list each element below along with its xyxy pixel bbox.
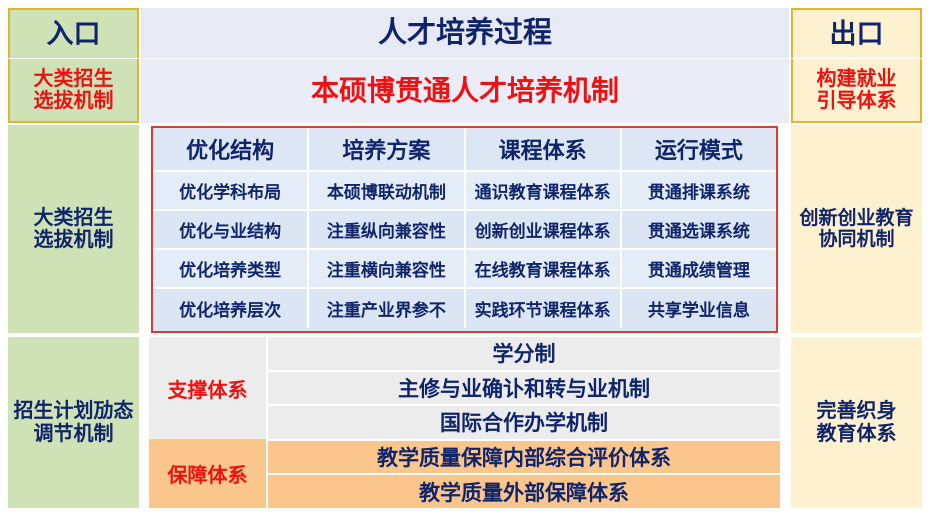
matrix-header-cell: 运行模式 — [622, 128, 776, 172]
process-title: 人才培养过程 — [141, 8, 789, 58]
matrix-cell: 注重纵向兼容性 — [309, 211, 465, 250]
diagram-root: 入口 大类招生选拔机制 大类招生选拔机制 招生计划劢态调节机制 人才培养过程 本… — [0, 0, 930, 514]
matrix-cell: 优化学科布局 — [153, 172, 309, 211]
matrix-row: 优化与业结构 注重纵向兼容性 创新创业课程体系 贯通选课系统 — [153, 211, 776, 250]
entry-header: 入口 — [8, 8, 139, 58]
matrix-cell: 优化培养层次 — [153, 289, 309, 328]
matrix-cell: 在线教育课程体系 — [466, 250, 622, 289]
support-item: 主修与业确讣和转与业机制 — [268, 372, 780, 405]
matrix-header-cell: 优化结构 — [153, 128, 309, 172]
left-bottom-panel: 招生计划劢态调节机制 — [8, 337, 139, 508]
exit-subtitle: 构建就业引导体系 — [791, 59, 922, 123]
matrix-table: 优化结构 培养方案 课程体系 运行模式 优化学科布局 本硕博联动机制 通识教育课… — [151, 126, 778, 333]
matrix-cell: 贯通选课系统 — [622, 211, 776, 250]
support-item: 国际合作办学机制 — [268, 406, 780, 439]
matrix-cell: 贯通排课系统 — [622, 172, 776, 211]
matrix-header-row: 优化结构 培养方案 课程体系 运行模式 — [153, 128, 776, 172]
matrix-cell: 创新创业课程体系 — [466, 211, 622, 250]
matrix-cell: 注重横向兼容性 — [309, 250, 465, 289]
matrix-cell: 实践环节课程体系 — [466, 289, 622, 328]
right-bottom-panel: 完善织身教育体系 — [791, 337, 922, 508]
right-mid-panel: 创新创业教育协同机制 — [791, 125, 922, 333]
matrix-cell: 通识教育课程体系 — [466, 172, 622, 211]
guarantee-system-label: 保障体系 — [149, 439, 268, 508]
matrix-cell: 优化培养类型 — [153, 250, 309, 289]
entry-subtitle: 大类招生选拔机制 — [8, 59, 139, 123]
matrix-header-cell: 课程体系 — [466, 128, 622, 172]
matrix-cell: 共享学业信息 — [622, 289, 776, 328]
support-system-label: 支撑体系 — [149, 337, 268, 439]
matrix-cell: 注重产业界参不 — [309, 289, 465, 328]
matrix-cell: 本硕博联动机制 — [309, 172, 465, 211]
guarantee-item: 教学质量外部保障体系 — [268, 475, 780, 508]
matrix-cell: 贯通成绩管理 — [622, 250, 776, 289]
matrix-row: 优化培养层次 注重产业界参不 实践环节课程体系 共享学业信息 — [153, 289, 776, 328]
matrix-row: 优化培养类型 注重横向兼容性 在线教育课程体系 贯通成绩管理 — [153, 250, 776, 289]
guarantee-item: 教学质量保障内部综合评价体系 — [268, 441, 780, 474]
left-mid-panel: 大类招生选拔机制 — [8, 125, 139, 333]
matrix-header-cell: 培养方案 — [309, 128, 465, 172]
exit-header: 出口 — [791, 8, 922, 58]
support-item: 学分制 — [268, 337, 780, 370]
matrix-row: 优化学科布局 本硕博联动机制 通识教育课程体系 贯通排课系统 — [153, 172, 776, 211]
mechanism-title: 本硕博贯通人才培养机制 — [141, 59, 789, 123]
matrix-cell: 优化与业结构 — [153, 211, 309, 250]
